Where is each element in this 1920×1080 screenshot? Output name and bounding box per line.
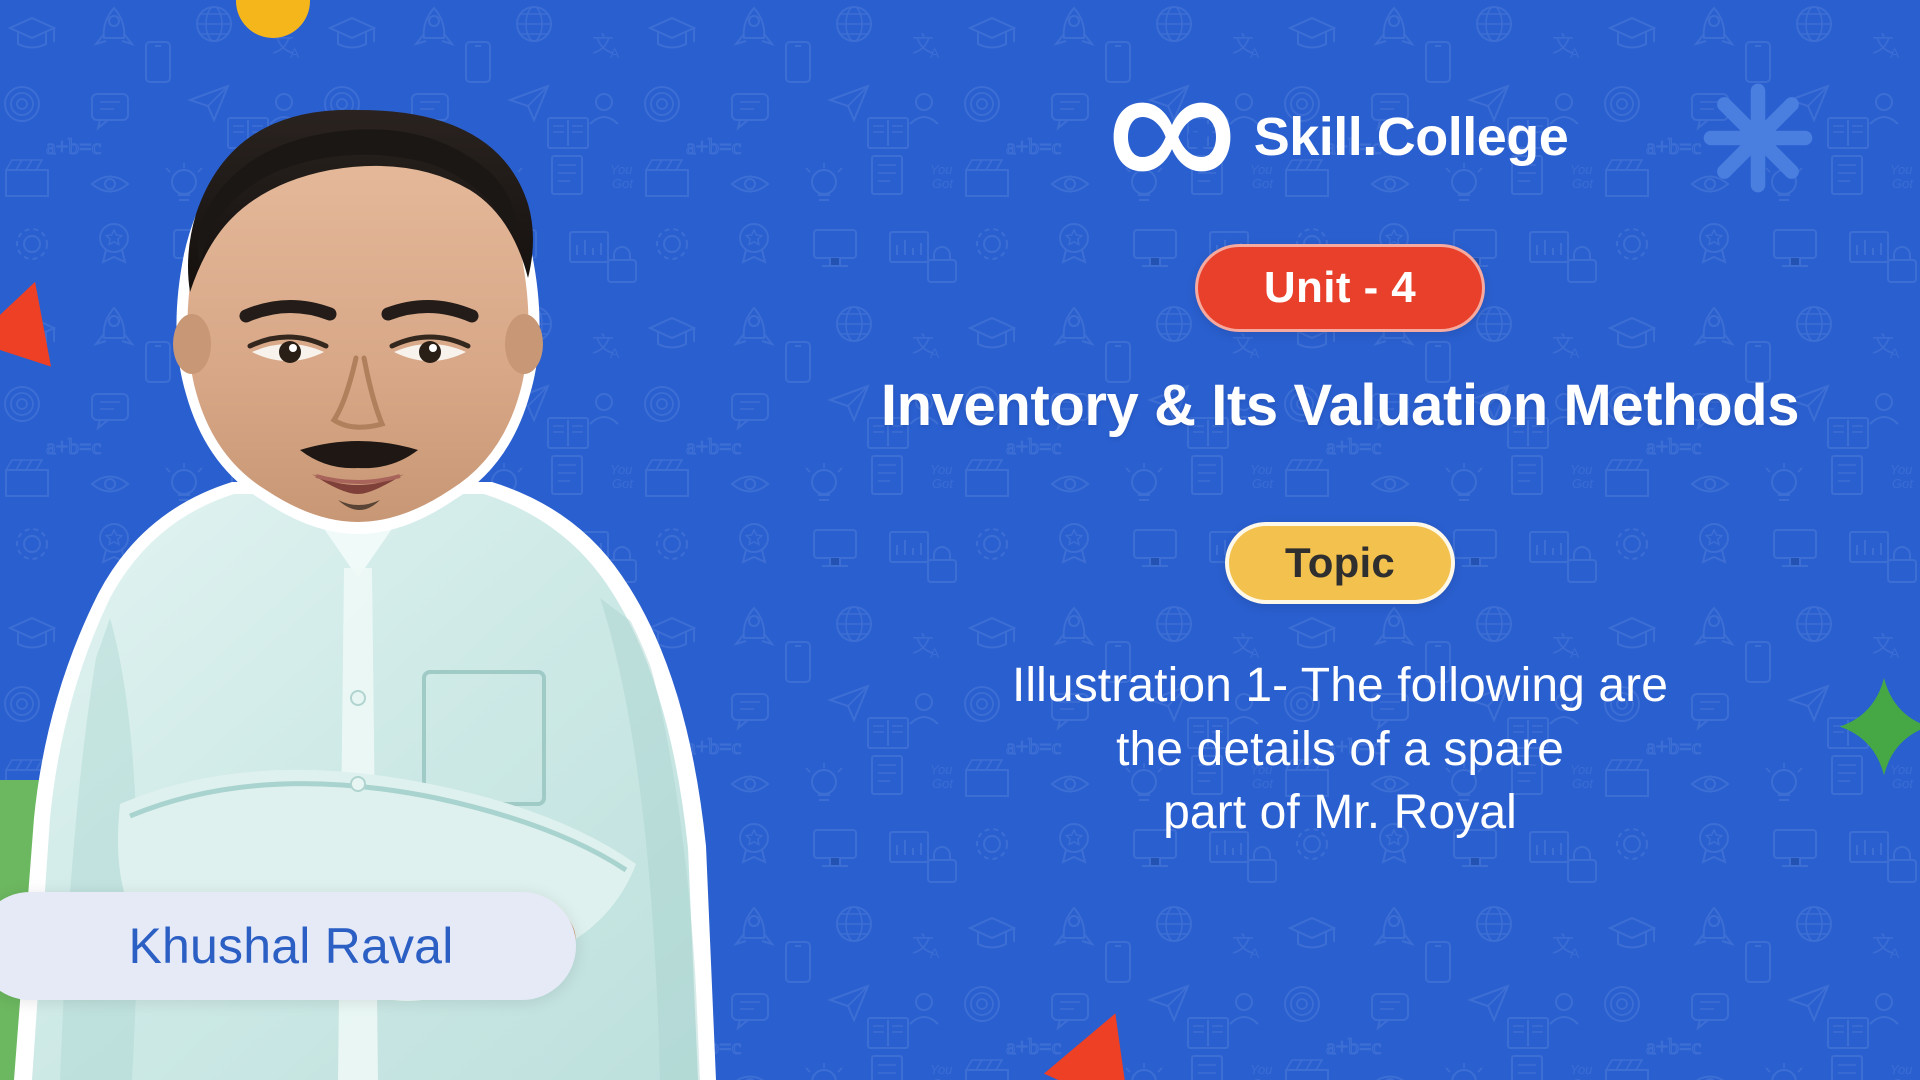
topic-description-line-1: Illustration 1- The following are [1012,654,1668,717]
topic-description-line-2: the details of a spare [1012,718,1668,781]
topic-badge[interactable]: Topic [1225,522,1455,604]
topic-description: Illustration 1- The following are the de… [1012,654,1668,844]
red-triangle-decoration-left [0,267,77,378]
course-title: Inventory & Its Valuation Methods [881,372,1799,440]
infinity-graduation-rupee-logo-icon [1112,96,1232,178]
slide-content: Skill.College Unit - 4 Inventory & Its V… [760,0,1920,1080]
unit-badge-label: Unit - 4 [1264,263,1416,312]
yellow-circle-decoration [236,0,310,38]
presenter-name: Khushal Raval [128,917,453,975]
topic-description-line-3: part of Mr. Royal [1012,781,1668,844]
course-slide: a+b=c You Got 文 A [0,0,1920,1080]
brand-name: Skill.College [1254,106,1569,168]
brand-lockup[interactable]: Skill.College [1112,96,1569,178]
presenter-name-plate: Khushal Raval [0,892,576,1000]
unit-badge[interactable]: Unit - 4 [1195,244,1485,332]
topic-badge-label: Topic [1285,539,1395,586]
